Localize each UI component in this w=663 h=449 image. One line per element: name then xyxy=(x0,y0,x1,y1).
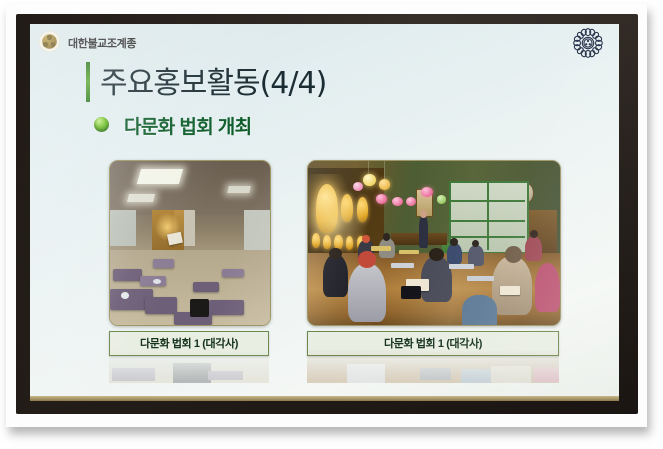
photo-reflection-left xyxy=(109,349,269,383)
lotus-emblem-icon xyxy=(573,28,603,58)
slide-title: 주요홍보활동(4/4) xyxy=(100,58,326,102)
organization-name: 대한불교조계종 xyxy=(68,35,136,51)
photo-reflection-right xyxy=(307,349,559,383)
photo-frame-right xyxy=(307,160,561,326)
photo-block-right: 다문화 법회 1 (대각사) xyxy=(307,160,559,356)
presentation-slide: 대한불교조계종 xyxy=(30,24,619,401)
slide-bottom-edge xyxy=(30,396,619,401)
photo-frame-left xyxy=(109,160,271,326)
slide-subtitle: 다문화 법회 개최 xyxy=(124,112,252,139)
dharma-assembly-seated-photo xyxy=(308,161,560,325)
title-accent-bar xyxy=(86,62,90,102)
green-bullet-icon xyxy=(94,117,109,132)
dharma-assembly-standing-photo xyxy=(110,161,270,325)
slide-title-row: 주요홍보활동(4/4) xyxy=(86,60,606,106)
photo-block-left: 다문화 법회 1 (대각사) xyxy=(109,160,269,356)
jogye-order-logo-icon xyxy=(39,31,60,52)
slide-header: 대한불교조계종 xyxy=(30,24,619,60)
projected-slide-photograph: 대한불교조계종 xyxy=(0,0,663,449)
